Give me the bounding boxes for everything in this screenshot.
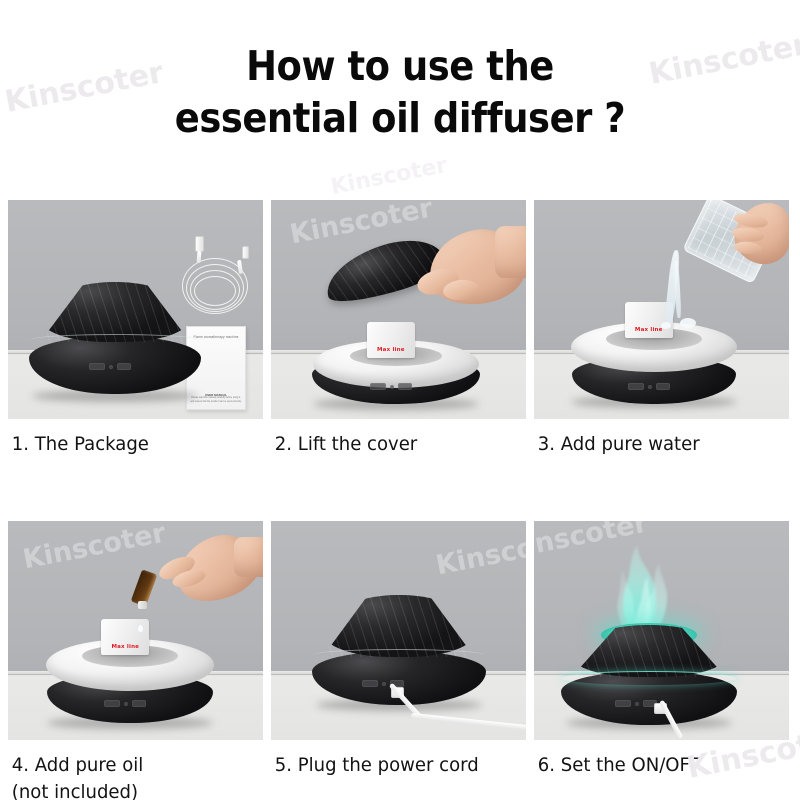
device-cover — [572, 625, 726, 677]
max-line-label: Max line — [367, 347, 415, 353]
oil-bottle-nozzle — [138, 601, 147, 609]
step-caption-6: 6. Set the ON/OFF — [534, 740, 776, 779]
device-button-panel[interactable] — [362, 679, 414, 688]
hand — [399, 226, 526, 322]
indicator-led — [648, 385, 652, 389]
step-photo-3: Max line — [534, 200, 789, 419]
light-button[interactable] — [132, 700, 146, 707]
step-photo-5: Kinscoter — [271, 521, 526, 740]
hand-wrist — [234, 537, 263, 577]
max-line-label: Max line — [101, 644, 149, 650]
step-photo-2: Kinscoter Max line — [271, 200, 526, 419]
indicator-led — [124, 702, 128, 706]
hand — [158, 537, 263, 617]
device-button-panel[interactable] — [370, 382, 422, 391]
device-light-rim — [30, 334, 200, 346]
device-swirl-texture — [572, 625, 726, 677]
step-caption-5: 5. Plug the power cord — [271, 740, 513, 779]
power-button[interactable] — [628, 383, 644, 390]
water-splash — [680, 318, 696, 328]
step-cell-6: Kinscoter — [534, 521, 789, 800]
indicator-led — [109, 365, 113, 369]
device-button-panel[interactable] — [104, 699, 156, 708]
device-button-panel[interactable] — [628, 382, 680, 391]
step-caption-1: 1. The Package — [8, 419, 250, 458]
step-caption-2: 2. Lift the cover — [271, 419, 513, 458]
device-swirl-texture — [40, 282, 190, 342]
power-button[interactable] — [104, 700, 120, 707]
oil-droplet — [138, 625, 143, 632]
step-cell-4: Kinscoter Max line — [8, 521, 263, 800]
page-title-line-2: essential oil diffuser ? — [40, 92, 760, 144]
steps-grid: Flame aromatherapy machine USER MANUAL P… — [8, 200, 792, 800]
device-swirl-texture — [323, 595, 475, 657]
page-title-line-1: How to use the — [40, 40, 760, 92]
water-splash — [661, 322, 671, 329]
light-button[interactable] — [656, 383, 670, 390]
light-button[interactable] — [117, 363, 131, 370]
indicator-led — [635, 702, 639, 706]
infographic-page: How to use the essential oil diffuser ? … — [0, 0, 800, 800]
step-cell-5: Kinscoter — [271, 521, 526, 800]
hand-wrist — [495, 226, 526, 278]
device-button-panel[interactable] — [89, 362, 141, 371]
water-tank: Max line — [367, 322, 415, 358]
diffuser-assembled — [8, 200, 263, 419]
water-tank: Max line — [101, 619, 149, 655]
step-caption-4: 4. Add pure oil (not included) — [8, 740, 250, 800]
power-button[interactable] — [370, 383, 386, 390]
device-cover — [40, 282, 190, 342]
diffuser-assembled — [271, 521, 526, 740]
device-light-rim — [313, 649, 485, 661]
power-button[interactable] — [89, 363, 105, 370]
step-photo-6: Kinscoter — [534, 521, 789, 740]
indicator-led — [382, 682, 386, 686]
step-caption-3: 3. Add pure water — [534, 419, 776, 458]
hand — [730, 202, 789, 280]
indicator-led — [390, 385, 394, 389]
step-cell-1: Flame aromatherapy machine USER MANUAL P… — [8, 200, 263, 458]
page-title: How to use the essential oil diffuser ? — [0, 40, 800, 144]
step-cell-2: Kinscoter Max line — [271, 200, 526, 458]
device-cover — [323, 595, 475, 657]
device-light-rim — [561, 671, 737, 685]
brand-watermark: Kinscoter — [329, 153, 449, 200]
light-button[interactable] — [398, 383, 412, 390]
power-button[interactable] — [615, 700, 631, 707]
power-button[interactable] — [362, 680, 378, 687]
step-photo-4: Kinscoter Max line — [8, 521, 263, 740]
step-cell-3: Max line — [534, 200, 789, 458]
step-photo-1: Flame aromatherapy machine USER MANUAL P… — [8, 200, 263, 419]
